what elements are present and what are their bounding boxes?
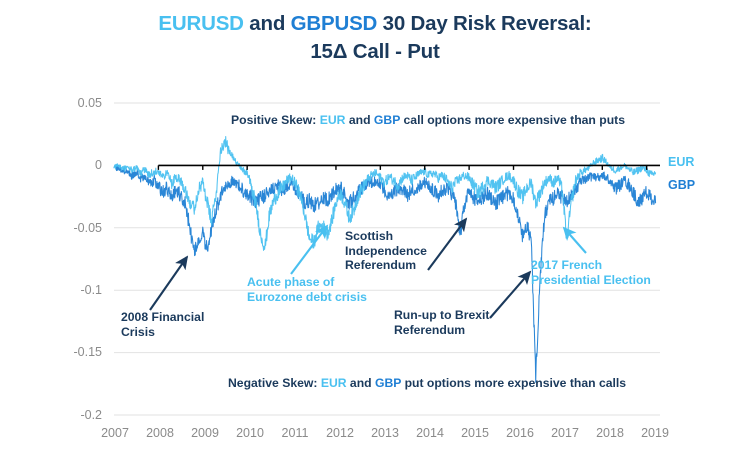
negative-skew-mid: and (347, 376, 375, 390)
negative-skew-prefix: Negative Skew: (228, 376, 321, 390)
annotation-financial-crisis: 2008 Financial Crisis (121, 310, 204, 339)
title-line-1: EURUSD and GBPUSD 30 Day Risk Reversal: (0, 10, 750, 38)
negative-skew-eur: EUR (321, 376, 347, 390)
negative-skew-note: Negative Skew: EUR and GBP put options m… (228, 376, 626, 390)
positive-skew-eur: EUR (320, 113, 346, 127)
positive-skew-note: Positive Skew: EUR and GBP call options … (231, 113, 625, 127)
chart-root: EURUSD and GBPUSD 30 Day Risk Reversal: … (0, 0, 750, 463)
annotation-french-election: 2017 French Presidential Election (531, 258, 651, 287)
annotation-brexit: Run-up to Brexit Referendum (394, 308, 489, 337)
series-label-eur: EUR (668, 155, 694, 169)
negative-skew-gbp: GBP (375, 376, 401, 390)
y-tick-label-2: -0.05 (42, 221, 102, 235)
title-eurusd: EURUSD (158, 12, 243, 35)
title-and: and (244, 12, 291, 35)
y-tick-label-1: 0 (42, 158, 102, 172)
positive-skew-prefix: Positive Skew: (231, 113, 320, 127)
annotation-scottish-referendum: Scottish Independence Referendum (345, 229, 427, 273)
y-tick-label-5: -0.2 (42, 408, 102, 422)
title-line-2: 15Δ Call - Put (0, 38, 750, 66)
positive-skew-mid: and (345, 113, 373, 127)
series-label-gbp: GBP (668, 178, 695, 192)
page-title: EURUSD and GBPUSD 30 Day Risk Reversal: … (0, 10, 750, 66)
annotation-eurozone-debt: Acute phase of Eurozone debt crisis (247, 275, 367, 304)
y-tick-label-4: -0.15 (42, 345, 102, 359)
title-rest: 30 Day Risk Reversal: (377, 12, 591, 35)
title-gbpusd: GBPUSD (291, 12, 378, 35)
positive-skew-gbp: GBP (374, 113, 400, 127)
y-tick-label-0: 0.05 (42, 96, 102, 110)
x-tick-label-2019: 2019 (628, 426, 682, 440)
y-tick-label-3: -0.1 (42, 283, 102, 297)
negative-skew-suffix: put options more expensive than calls (401, 376, 626, 390)
positive-skew-suffix: call options more expensive than puts (400, 113, 625, 127)
